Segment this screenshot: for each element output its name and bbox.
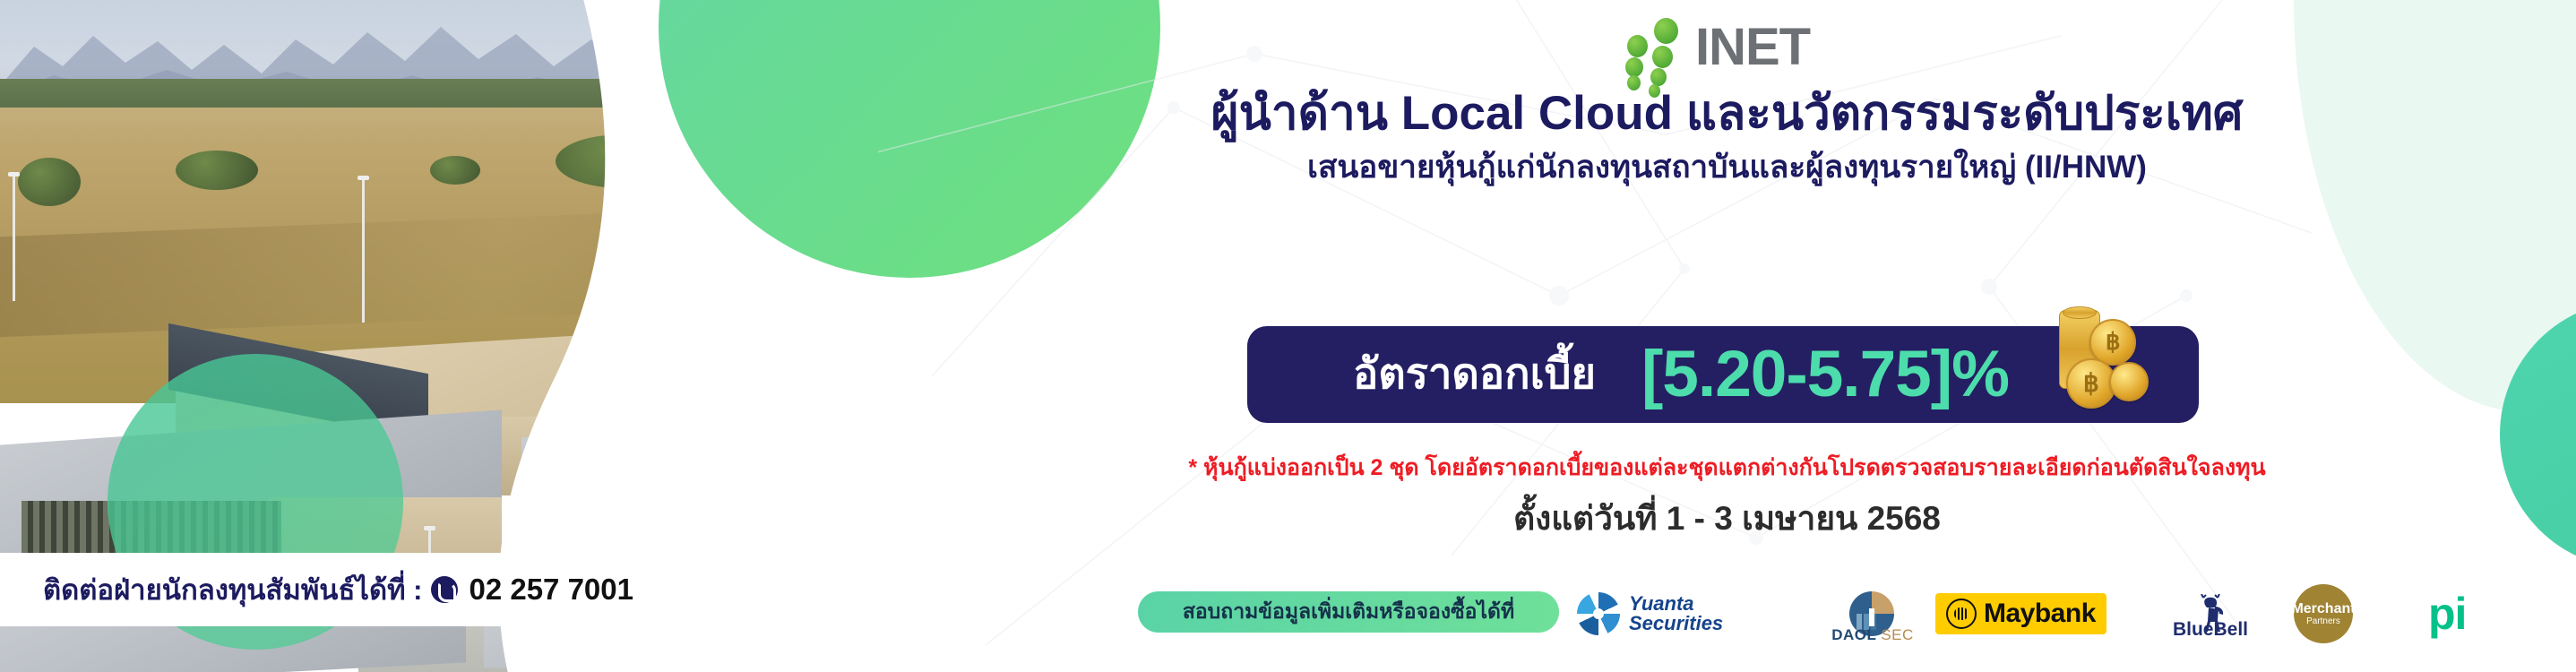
contact-phone-number[interactable]: 02 257 7001 — [469, 573, 633, 607]
phone-icon — [431, 576, 458, 603]
inet-wordmark: INET — [1695, 22, 1810, 73]
inet-dots-logo-icon — [1613, 16, 1695, 81]
bluebell-wordmark: BlueBell — [2158, 619, 2263, 641]
offering-date-range: ตั้งแต่วันที่ 1 - 3 เมษายน 2568 — [878, 495, 2576, 542]
interest-rate-box: อัตราดอกเบี้ย [5.20-5.75]% ฿ ฿ — [1247, 326, 2199, 423]
yuanta-star-icon — [1577, 592, 1620, 635]
partner-logo-maybank[interactable]: Maybank — [1935, 578, 2106, 650]
page-title: ผู้นำด้าน Local Cloud และนวัตกรรมระดับปร… — [878, 85, 2576, 142]
disclaimer-text: * หุ้นกู้แบ่งออกเป็น 2 ชุด โดยอัตราดอกเบ… — [878, 452, 2576, 483]
partner-logo-merchant[interactable]: Merchant Partners — [2294, 578, 2353, 650]
inet-bond-offering-banner: INET ผู้นำด้าน Local Cloud และนวัตกรรมระ… — [0, 0, 2576, 672]
gold-coins-icon: ฿ ฿ — [2036, 306, 2149, 414]
partner-logo-yuanta[interactable]: Yuanta Securities — [1577, 578, 1723, 650]
partner-logos: Yuanta Securities DAOL SEC Maybank — [1577, 578, 2545, 650]
interest-rate-label: อัตราดอกเบี้ย — [1353, 343, 1596, 404]
merchant-line2: Partners — [2306, 616, 2340, 627]
maybank-wordmark: Maybank — [1984, 600, 2096, 627]
merchant-line1: Merchant — [2291, 601, 2355, 616]
daol-wordmark: DAOL SEC — [1819, 626, 1926, 644]
contact-label: ติดต่อฝ่ายนักลงทุนสัมพันธ์ได้ที่ : — [43, 567, 422, 612]
maybank-tiger-icon — [1946, 599, 1977, 629]
yuanta-line1: Yuanta — [1629, 594, 1723, 614]
yuanta-line2: Securities — [1629, 614, 1723, 633]
pi-wordmark-icon: pi — [2428, 591, 2466, 636]
content-area: INET ผู้นำด้าน Local Cloud และนวัตกรรมระ… — [878, 0, 2576, 672]
partner-logo-pi[interactable]: pi — [2428, 578, 2466, 650]
investor-relations-contact-card: ติดต่อฝ่ายนักลงทุนสัมพันธ์ได้ที่ : 02 25… — [0, 553, 901, 626]
inet-logo: INET — [1613, 16, 1908, 81]
interest-rate-value: [5.20-5.75]% — [1641, 332, 2009, 418]
subscribe-cta-button[interactable]: สอบถามข้อมูลเพิ่มเติมหรือจองซื้อได้ที่ — [1138, 591, 1559, 633]
partner-logo-daol[interactable]: DAOL SEC — [1819, 578, 1926, 650]
page-subtitle: เสนอขายหุ้นกู้แก่นักลงทุนสถาบันและผู้ลงท… — [878, 147, 2576, 188]
merchant-circle-icon: Merchant Partners — [2294, 584, 2353, 643]
partner-logo-bluebell[interactable]: BlueBell — [2168, 578, 2254, 650]
